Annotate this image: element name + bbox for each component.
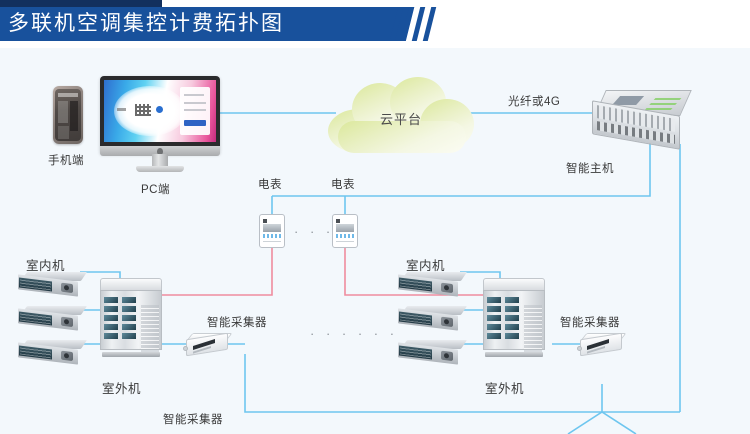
outdoor-unit-right[interactable]	[483, 278, 545, 354]
page-header: 多联机空调集控计费拓扑图	[0, 0, 750, 48]
smart-collector-left-label: 智能采集器	[207, 314, 267, 330]
smart-collector-bottom-label: 智能采集器	[163, 411, 223, 427]
header-accent-strip	[0, 0, 162, 7]
outdoor-unit-right-label: 室外机	[485, 378, 524, 397]
pc-terminal[interactable]	[100, 76, 220, 176]
indoor-unit-left-2[interactable]	[18, 306, 84, 330]
smart-collector-left[interactable]	[186, 333, 230, 357]
electric-meter-right[interactable]	[332, 214, 358, 248]
indoor-unit-left-3[interactable]	[18, 340, 84, 364]
meter-ellipsis: · · ·	[294, 224, 334, 239]
pc-terminal-label: PC端	[141, 181, 170, 197]
phone-screen	[55, 89, 81, 141]
page-title: 多联机空调集控计费拓扑图	[8, 9, 284, 39]
header-stripe-decoration	[392, 7, 452, 41]
monitor-bezel	[100, 76, 220, 154]
smart-collector-right-label: 智能采集器	[560, 314, 620, 330]
electric-meter-left[interactable]	[259, 214, 285, 248]
cloud-platform-label: 云平台	[328, 109, 474, 128]
phone-body	[53, 86, 83, 144]
system-ellipsis: · · · · · ·	[310, 326, 398, 341]
uplink-label: 光纤或4G	[508, 93, 560, 109]
indoor-unit-right-3[interactable]	[398, 340, 464, 364]
mobile-terminal[interactable]	[53, 86, 83, 144]
smart-collector-right[interactable]	[580, 333, 624, 357]
electric-meter-right-label: 电表	[331, 176, 355, 192]
outdoor-unit-left-label: 室外机	[102, 378, 141, 397]
monitor-screen	[104, 80, 216, 142]
dashboard-icon	[135, 104, 151, 116]
cloud-platform[interactable]: 云平台	[328, 77, 474, 155]
smart-host[interactable]	[592, 90, 686, 148]
electric-meter-left-label: 电表	[258, 176, 282, 192]
topology-diagram: 手机端 PC端 云平台 光纤或4G	[0, 48, 750, 434]
mobile-terminal-label: 手机端	[48, 152, 84, 168]
smart-host-label: 智能主机	[566, 160, 614, 176]
outdoor-unit-left[interactable]	[100, 278, 162, 354]
indoor-unit-right-2[interactable]	[398, 306, 464, 330]
indoor-unit-right-1[interactable]	[398, 272, 464, 296]
indoor-unit-left-1[interactable]	[18, 272, 84, 296]
